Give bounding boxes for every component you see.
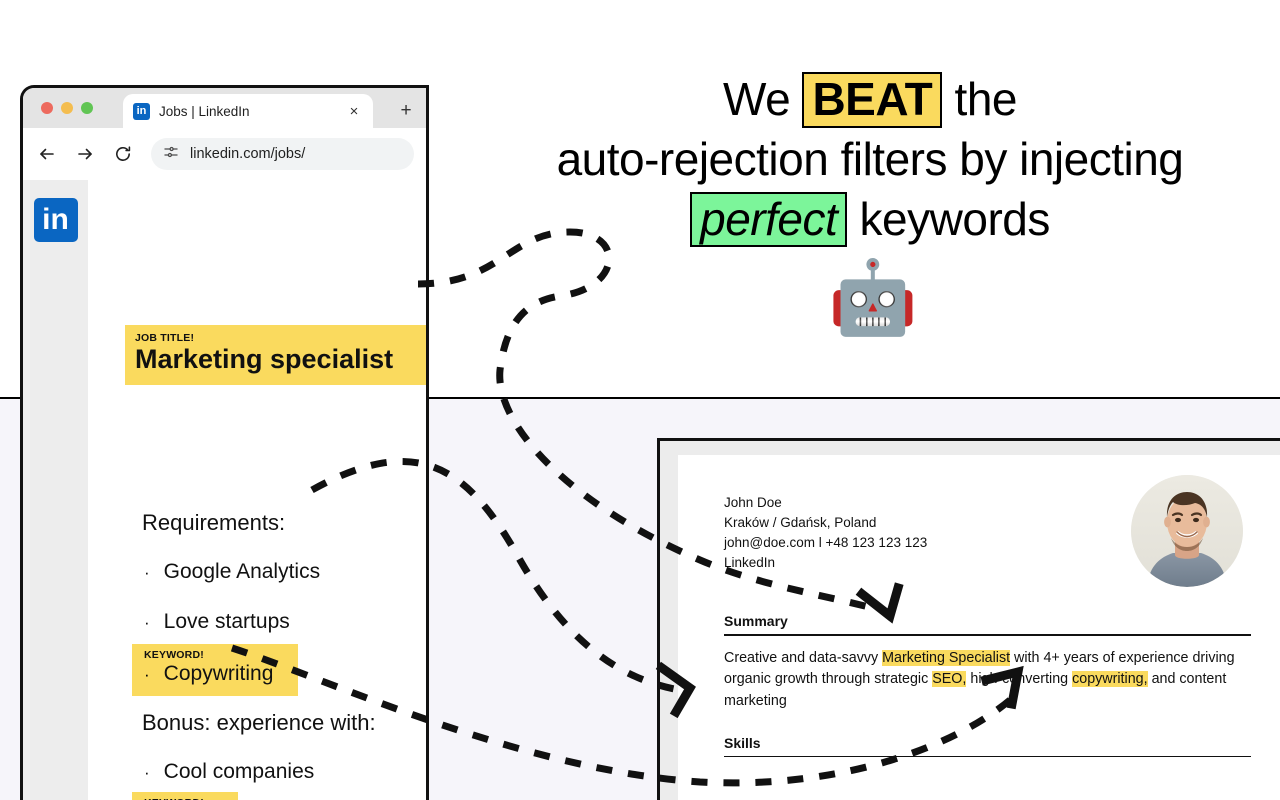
- linkedin-favicon-icon: in: [133, 103, 150, 120]
- browser-toolbar: linkedin.com/jobs/: [23, 128, 426, 180]
- resume-window: John Doe Kraków / Gdańsk, Poland john@do…: [657, 438, 1280, 800]
- divider-line-right: [428, 397, 1280, 399]
- new-tab-icon[interactable]: +: [395, 99, 417, 121]
- poster-canvas: We BEAT the auto-rejection filters by in…: [0, 0, 1280, 800]
- summary-part-1: Creative and data-savvy: [724, 650, 882, 666]
- bonus-label: Cool companies: [164, 760, 315, 784]
- job-title-highlight: JOB TITLE! Marketing specialist: [125, 325, 429, 385]
- resume-header: John Doe Kraków / Gdańsk, Poland john@do…: [724, 493, 1251, 587]
- linkedin-sidebar: in: [23, 180, 88, 800]
- bullet-icon: ·: [144, 666, 150, 683]
- background-panel-left: [0, 399, 20, 800]
- headline-line1-post: the: [942, 73, 1017, 125]
- tab-jobs-linkedin[interactable]: in Jobs | LinkedIn ×: [123, 94, 373, 128]
- page-headline: We BEAT the auto-rejection filters by in…: [470, 70, 1270, 249]
- close-tab-icon[interactable]: ×: [345, 102, 363, 120]
- forward-icon[interactable]: [73, 142, 97, 166]
- bonus-heading: Bonus: experience with:: [142, 710, 376, 736]
- headline-beat-highlight: BEAT: [802, 72, 942, 128]
- address-bar[interactable]: linkedin.com/jobs/: [151, 138, 414, 170]
- divider-line-left: [0, 397, 22, 399]
- requirements-heading: Requirements:: [142, 510, 285, 536]
- url-text: linkedin.com/jobs/: [190, 146, 305, 162]
- requirement-label: Love startups: [164, 610, 290, 634]
- bullet-icon: ·: [144, 564, 150, 581]
- robot-face-icon: 🤖: [828, 262, 918, 334]
- bullet-icon: ·: [144, 614, 150, 631]
- close-window-button[interactable]: [41, 102, 53, 114]
- headline-line3-post: keywords: [847, 193, 1050, 245]
- browser-tab-strip: in Jobs | LinkedIn × +: [23, 88, 426, 128]
- resume-summary-title: Summary: [724, 613, 1251, 629]
- candidate-name: John Doe: [724, 493, 927, 513]
- job-posting-column: JOB TITLE! Marketing specialist Requirem…: [88, 180, 426, 800]
- back-icon[interactable]: [35, 142, 59, 166]
- reload-icon[interactable]: [111, 142, 135, 166]
- keyword-label: Copywriting: [164, 662, 274, 686]
- avatar: [1131, 475, 1243, 587]
- resume-document: John Doe Kraków / Gdańsk, Poland john@do…: [678, 455, 1280, 800]
- linkedin-logo-icon[interactable]: in: [34, 198, 78, 242]
- keyword-kicker: KEYWORD!: [144, 649, 286, 661]
- requirement-label: Google Analytics: [164, 560, 320, 584]
- site-settings-icon[interactable]: [163, 144, 179, 165]
- job-title: Marketing specialist: [135, 345, 429, 375]
- linkedin-page-content: in JOB TITLE! Marketing specialist Requi…: [23, 180, 426, 800]
- bullet-icon: ·: [144, 764, 150, 781]
- summary-part-3: high-converting: [966, 671, 1072, 687]
- resume-summary-rule: [724, 634, 1251, 636]
- minimize-window-button[interactable]: [61, 102, 73, 114]
- summary-highlight-seo: SEO,: [932, 671, 966, 687]
- bonus-item-cool-companies: · Cool companies: [144, 760, 314, 784]
- summary-highlight-copywriting: copywriting,: [1072, 671, 1148, 687]
- requirement-item-google-analytics: · Google Analytics: [144, 560, 320, 584]
- window-controls: [41, 102, 93, 114]
- summary-highlight-marketing-specialist: Marketing Specialist: [882, 650, 1010, 666]
- candidate-contact: john@doe.com l +48 123 123 123: [724, 533, 927, 553]
- keyword-highlight-seo: KEYWORD! · SEO: [132, 792, 238, 800]
- candidate-location: Kraków / Gdańsk, Poland: [724, 513, 927, 533]
- tab-title: Jobs | LinkedIn: [159, 104, 336, 119]
- headshot-photo-icon: [1131, 475, 1243, 587]
- requirement-item-love-startups: · Love startups: [144, 610, 290, 634]
- resume-skills-title: Skills: [724, 735, 1251, 751]
- maximize-window-button[interactable]: [81, 102, 93, 114]
- headline-line2: auto-rejection filters by injecting: [557, 133, 1184, 185]
- job-title-kicker: JOB TITLE!: [135, 332, 429, 344]
- resume-skills-rule: [724, 756, 1251, 758]
- keyword-highlight-copywriting: KEYWORD! · Copywriting: [132, 644, 298, 696]
- candidate-linkedin-link[interactable]: LinkedIn: [724, 553, 927, 573]
- browser-window: in Jobs | LinkedIn × + linkedin.com/jobs…: [20, 85, 429, 800]
- headline-line1-pre: We: [723, 73, 802, 125]
- resume-contact-block: John Doe Kraków / Gdańsk, Poland john@do…: [724, 493, 927, 573]
- resume-summary-text: Creative and data-savvy Marketing Specia…: [724, 648, 1251, 713]
- headline-perfect-highlight: perfect: [690, 192, 847, 248]
